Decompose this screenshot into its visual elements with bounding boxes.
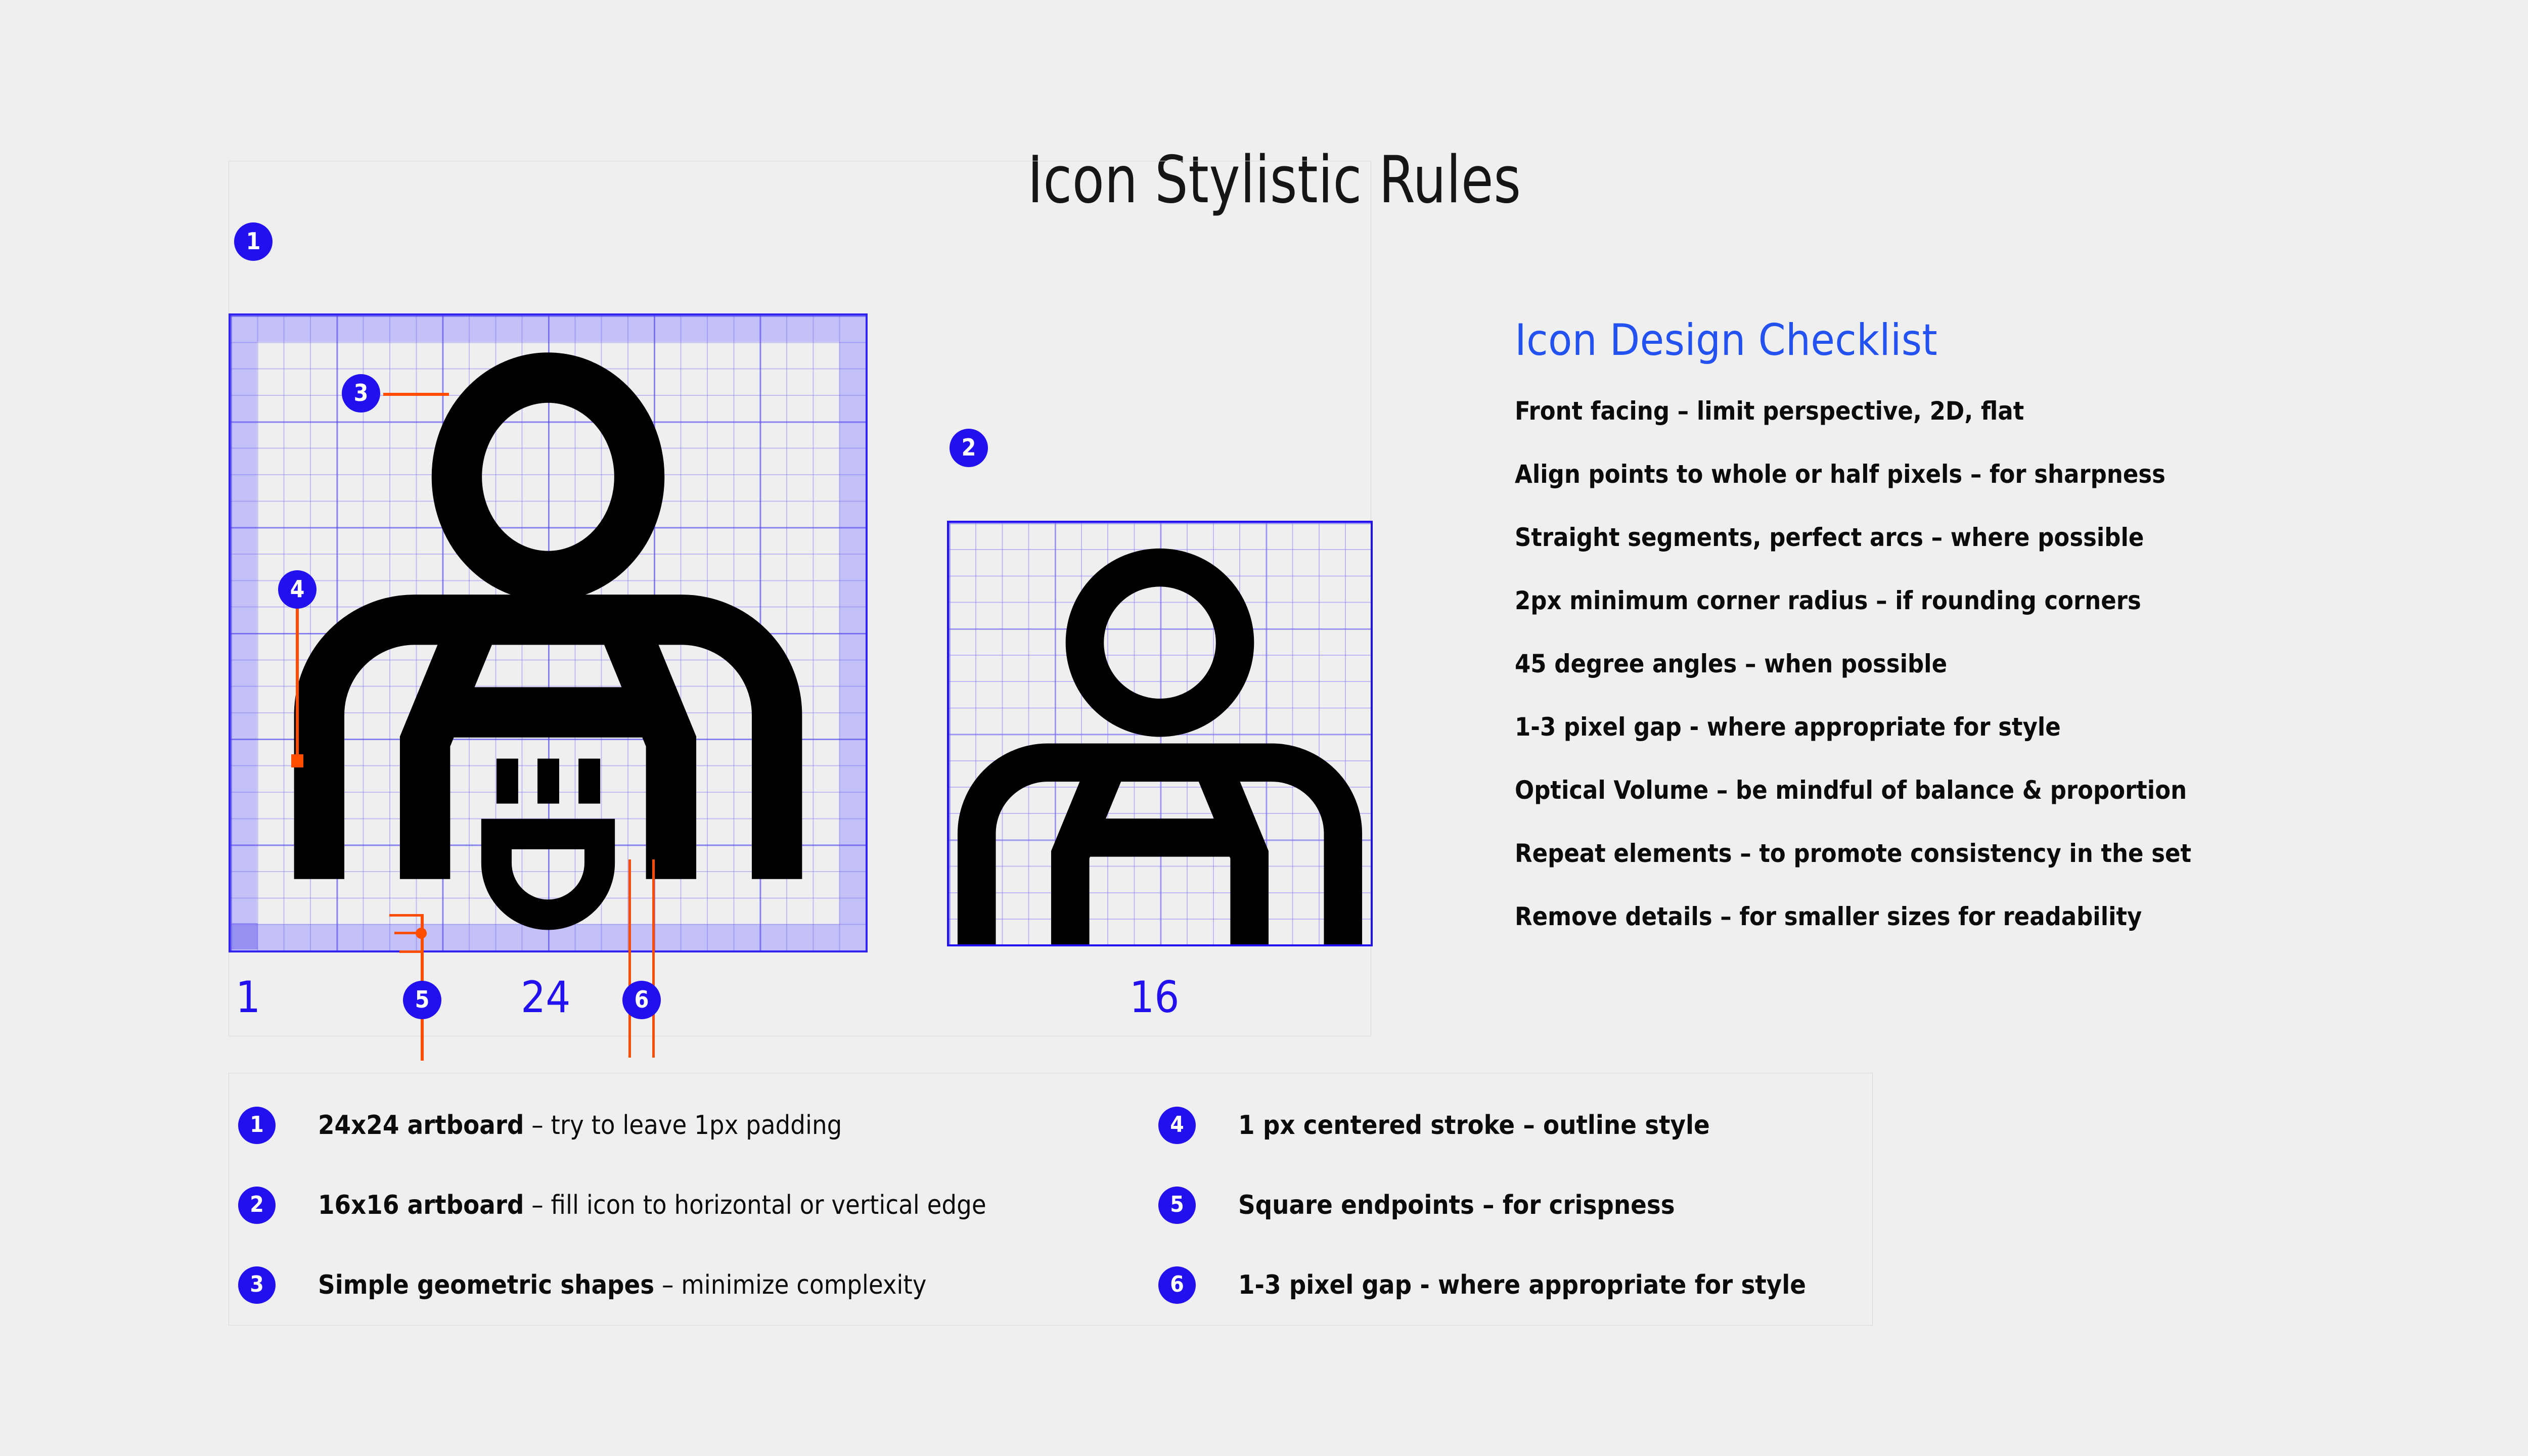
leader-line-5-top — [389, 914, 424, 917]
legend-badge-3: 3 — [238, 1266, 276, 1304]
artboard-24-padding-caption: 1 — [236, 976, 260, 1019]
artboard-24-grid — [229, 313, 868, 952]
checklist-item: Align points to whole or half pixels – f… — [1515, 462, 2475, 487]
legend-label-5: Square endpoints – for crispness — [1238, 1190, 1675, 1221]
legend-label-4: 1 px centered stroke – outline style — [1238, 1110, 1710, 1141]
callout-badge-2[interactable]: 2 — [950, 429, 988, 467]
callout-badge-4[interactable]: 4 — [278, 570, 317, 609]
legend-panel: 1 24x24 artboard – try to leave 1px padd… — [229, 1073, 1873, 1326]
checklist-item: 2px minimum corner radius – if rounding … — [1515, 588, 2475, 613]
artboard-16-grid — [947, 521, 1373, 946]
callout-badge-6[interactable]: 6 — [622, 981, 661, 1019]
checklist-item: Repeat elements – to promote consistency… — [1515, 841, 2475, 866]
legend-label-2: 16x16 artboard – fill icon to horizontal… — [318, 1190, 986, 1221]
checklist-item: Straight segments, perfect arcs – where … — [1515, 525, 2475, 550]
legend-badge-6: 6 — [1158, 1266, 1196, 1304]
icon-design-checklist: Icon Design Checklist Front facing – lim… — [1515, 318, 2475, 967]
legend-badge-5: 5 — [1158, 1187, 1196, 1224]
poster-canvas: Icon Stylistic Rules — [0, 0, 2528, 1456]
leader-line-6b — [652, 859, 655, 1058]
person-icon-24 — [231, 315, 866, 950]
legend-label-6: 1-3 pixel gap - where appropriate for st… — [1238, 1269, 1806, 1301]
leader-dot-5 — [416, 928, 427, 939]
legend-badge-1: 1 — [238, 1107, 276, 1144]
leader-endpoint-4 — [291, 754, 303, 767]
callout-badge-1[interactable]: 1 — [234, 222, 273, 261]
leader-line-4 — [296, 607, 299, 758]
person-icon-16 — [949, 523, 1371, 944]
artboard-16-size-caption: 16 — [1130, 976, 1179, 1019]
checklist-item: 45 degree angles – when possible — [1515, 651, 2475, 676]
legend-badge-2: 2 — [238, 1187, 276, 1224]
artboard-24-size-caption: 24 — [521, 976, 570, 1019]
legend-badge-4: 4 — [1158, 1107, 1196, 1144]
callout-badge-5[interactable]: 5 — [403, 981, 441, 1019]
leader-line-3 — [383, 393, 449, 396]
checklist-item: Optical Volume – be mindful of balance &… — [1515, 778, 2475, 803]
checklist-item: 1-3 pixel gap - where appropriate for st… — [1515, 714, 2475, 740]
legend-label-3: Simple geometric shapes – minimize compl… — [318, 1269, 926, 1301]
checklist-item: Remove details – for smaller sizes for r… — [1515, 904, 2475, 929]
leader-line-5-bottom — [399, 950, 424, 953]
checklist-title: Icon Design Checklist — [1515, 318, 2475, 362]
legend-label-1: 24x24 artboard – try to leave 1px paddin… — [318, 1110, 842, 1141]
checklist-item: Front facing – limit perspective, 2D, fl… — [1515, 398, 2475, 424]
leader-line-6a — [628, 859, 631, 1058]
callout-badge-3[interactable]: 3 — [342, 374, 380, 413]
